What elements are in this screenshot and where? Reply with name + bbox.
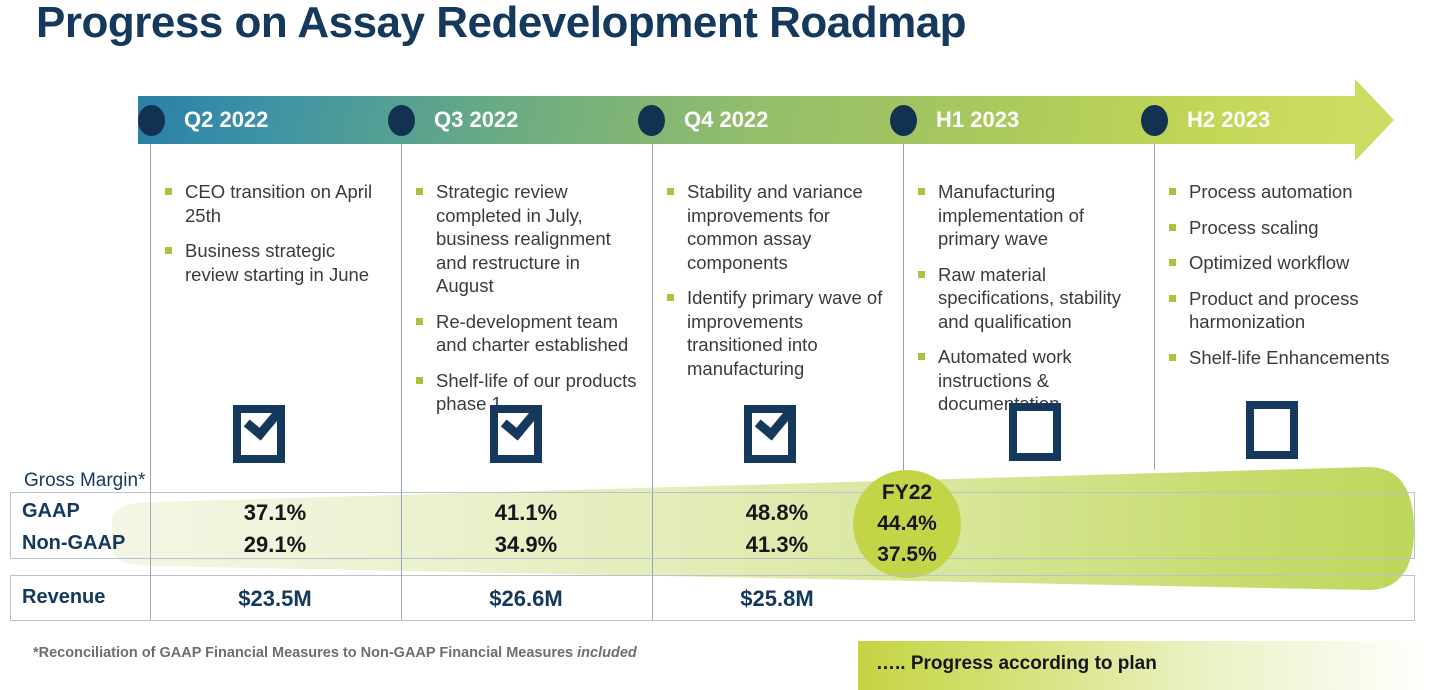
- footnote-emphasis: included: [577, 645, 637, 661]
- timeline-dot-icon: [638, 105, 665, 136]
- bullet-item: Process automation: [1167, 180, 1412, 204]
- gaap-value-q4: 48.8%: [697, 500, 857, 526]
- fy22-non-gaap-value: 37.5%: [853, 539, 961, 570]
- timeline-phase-label: H2 2023: [1187, 107, 1270, 133]
- bullet-column-h2-2023: Process automation Process scaling Optim…: [1167, 180, 1412, 381]
- bullet-item: Strategic review completed in July, busi…: [414, 180, 640, 298]
- timeline-dot-icon: [1141, 105, 1168, 136]
- table-divider: [652, 575, 653, 621]
- non-gaap-value-q3: 34.9%: [446, 532, 606, 558]
- bullet-item: Product and process harmonization: [1167, 287, 1412, 334]
- check-icon: [244, 400, 283, 441]
- bullet-item: Process scaling: [1167, 216, 1412, 240]
- status-checkbox-q3-2022[interactable]: [490, 405, 542, 463]
- bullet-item: Raw material specifications, stability a…: [916, 263, 1146, 334]
- revenue-value-q4: $25.8M: [697, 586, 857, 612]
- legend-label: ….. Progress according to plan: [876, 653, 1157, 675]
- page-title: Progress on Assay Redevelopment Roadmap: [36, 0, 966, 48]
- bullet-item: Shelf-life Enhancements: [1167, 346, 1412, 370]
- bullet-item: Stability and variance improvements for …: [665, 180, 893, 274]
- bullet-item: CEO transition on April 25th: [163, 180, 385, 227]
- table-divider: [150, 575, 151, 621]
- fy22-gaap-value: 44.4%: [853, 508, 961, 539]
- row-label-revenue: Revenue: [22, 586, 105, 609]
- bullet-column-h1-2023: Manufacturing implementation of primary …: [916, 180, 1146, 428]
- bullet-column-q3-2022: Strategic review completed in July, busi…: [414, 180, 640, 428]
- footnote-text: *Reconciliation of GAAP Financial Measur…: [33, 645, 577, 661]
- check-icon: [755, 400, 794, 441]
- table-divider: [150, 492, 151, 559]
- timeline-dot-icon: [890, 105, 917, 136]
- fy22-title: FY22: [853, 470, 961, 508]
- status-checkbox-q2-2022[interactable]: [233, 405, 285, 463]
- gaap-value-q2: 37.1%: [195, 500, 355, 526]
- bullet-item: Optimized workflow: [1167, 251, 1412, 275]
- check-icon: [501, 400, 540, 441]
- revenue-value-q3: $26.6M: [446, 586, 606, 612]
- timeline-dot-icon: [388, 105, 415, 136]
- status-checkbox-q4-2022[interactable]: [744, 405, 796, 463]
- timeline-arrowhead-icon: [1355, 79, 1394, 161]
- fy22-summary-badge: FY22 44.4% 37.5%: [853, 470, 961, 578]
- column-divider: [1154, 144, 1155, 470]
- row-label-non-gaap: Non-GAAP: [22, 532, 125, 555]
- timeline-phase-label: Q3 2022: [434, 107, 518, 133]
- row-label-gaap: GAAP: [22, 500, 80, 523]
- timeline-phase-label: Q2 2022: [184, 107, 268, 133]
- bullet-item: Identify primary wave of improvements tr…: [665, 286, 893, 380]
- timeline-phase-label: Q4 2022: [684, 107, 768, 133]
- footnote: *Reconciliation of GAAP Financial Measur…: [33, 645, 637, 661]
- gaap-value-q3: 41.1%: [446, 500, 606, 526]
- bullet-item: Re-development team and charter establis…: [414, 310, 640, 357]
- bullet-column-q4-2022: Stability and variance improvements for …: [665, 180, 893, 392]
- non-gaap-value-q4: 41.3%: [697, 532, 857, 558]
- bullet-item: Manufacturing implementation of primary …: [916, 180, 1146, 251]
- non-gaap-value-q2: 29.1%: [195, 532, 355, 558]
- gross-margin-label: Gross Margin*: [24, 470, 145, 492]
- timeline-dot-icon: [138, 105, 165, 136]
- bullet-column-q2-2022: CEO transition on April 25th Business st…: [163, 180, 385, 298]
- revenue-value-q2: $23.5M: [195, 586, 355, 612]
- bullet-item: Business strategic review starting in Ju…: [163, 239, 385, 286]
- legend-bar: ….. Progress according to plan: [858, 641, 1430, 690]
- status-checkbox-h2-2023[interactable]: [1246, 401, 1298, 459]
- status-checkbox-h1-2023[interactable]: [1009, 403, 1061, 461]
- column-divider: [903, 144, 904, 470]
- table-divider: [401, 575, 402, 621]
- timeline-phase-label: H1 2023: [936, 107, 1019, 133]
- timeline-arrow: Q2 2022 Q3 2022 Q4 2022 H1 2023 H2 2023: [138, 96, 1395, 144]
